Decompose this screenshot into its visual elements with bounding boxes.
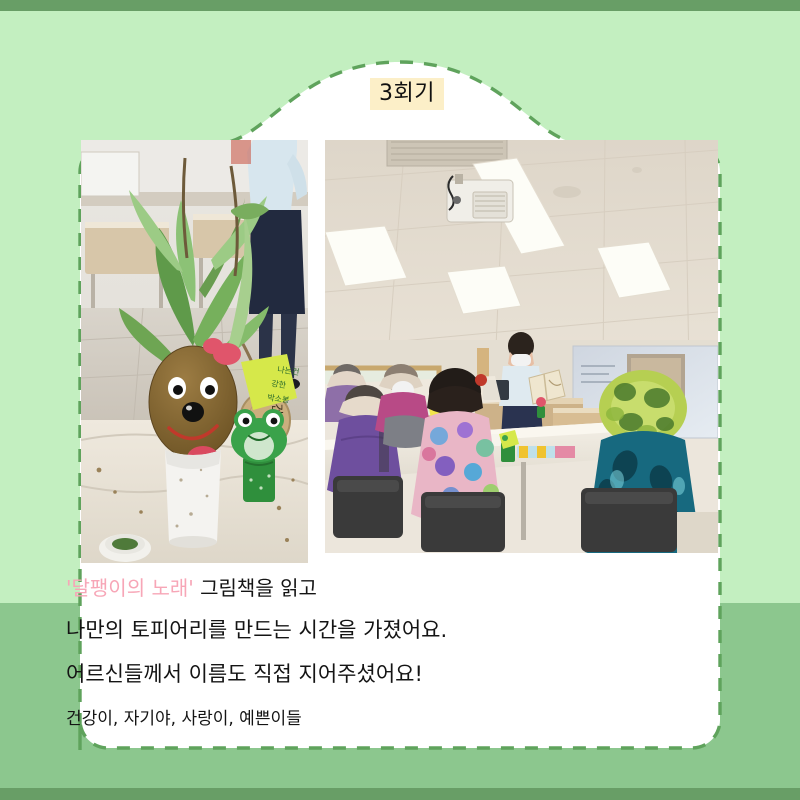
caption-line-2: 나만의 토피어리를 만드는 시간을 가졌어요. xyxy=(66,614,447,644)
session-badge: 3회기 xyxy=(370,78,444,110)
photo-topiary[interactable]: 건강이 xyxy=(81,140,308,563)
caption-line-3: 어르신들께서 이름도 직접 지어주셨어요! xyxy=(66,658,423,688)
photo-classroom[interactable] xyxy=(325,140,718,553)
top-accent-strip xyxy=(0,0,800,11)
caption-line-4-names: 건강이, 자기야, 사랑이, 예쁜이들 xyxy=(66,704,302,729)
caption-line-1-rest: 그림책을 읽고 xyxy=(194,576,317,600)
book-title: '달팽이의 노래' xyxy=(66,576,194,600)
svg-text:강한: 강한 xyxy=(271,378,288,390)
bottom-accent-strip xyxy=(0,788,800,800)
caption-line-1: '달팽이의 노래' 그림책을 읽고 xyxy=(66,572,317,601)
